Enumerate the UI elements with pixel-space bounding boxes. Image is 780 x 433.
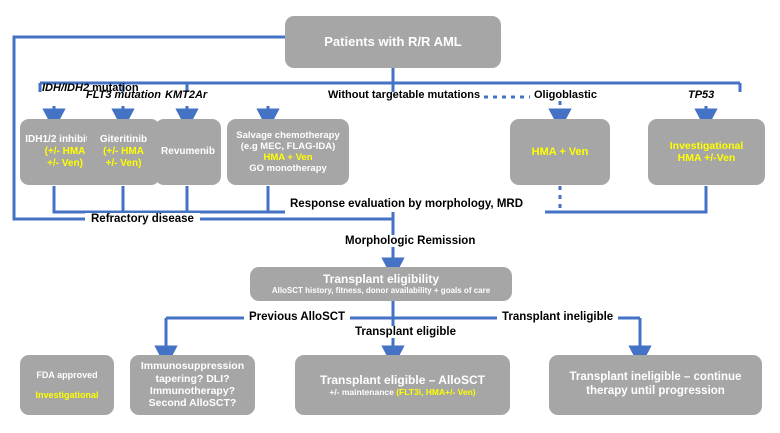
branch-label-tp53: TP53 xyxy=(688,89,714,101)
label-refractory-disease: Refractory disease xyxy=(85,213,200,225)
node-line: +/- Ven) xyxy=(47,158,83,170)
node-transplant-eligible-outcome[interactable]: Transplant eligible – AlloSCT +/- mainte… xyxy=(295,355,510,415)
node-line: Giteritinib xyxy=(100,134,147,146)
node-line: Second AlloSCT? xyxy=(149,397,237,409)
node-line: Transplant ineligible – continue xyxy=(570,371,742,385)
node-line: Revumenib xyxy=(161,146,215,158)
flowchart-canvas: Patients with R/R AML IDH/IDH2 mutation … xyxy=(0,0,780,433)
node-maintenance-highlight: (FLT3i, HMA+/- Ven) xyxy=(396,387,475,397)
branch-label-kmt2a: KMT2Ar xyxy=(165,89,207,101)
label-response-evaluation-text: Response evaluation by morphology, MRD xyxy=(290,198,523,210)
legend-box: FDA approved Investigational xyxy=(20,355,114,415)
node-salvage-treatment[interactable]: Salvage chemotherapy (e.g MEC, FLAG-IDA)… xyxy=(227,119,349,185)
node-eligibility-subtitle: AlloSCT history, fitness, donor availabi… xyxy=(272,286,490,295)
branch-label-oligoblastic-text: Oligoblastic xyxy=(534,89,597,101)
node-line: HMA + Ven xyxy=(532,146,589,159)
node-line: HMA +/-Ven xyxy=(678,152,736,164)
node-transplant-ineligible-outcome[interactable]: Transplant ineligible – continue therapy… xyxy=(549,355,762,415)
edge-tp53-out xyxy=(545,186,706,212)
node-line: Transplant eligible – AlloSCT xyxy=(320,373,485,387)
branch-label-no-target-text: Without targetable mutations xyxy=(328,89,480,101)
node-line: tapering? DLI? xyxy=(155,373,229,385)
node-patients-rr-aml[interactable]: Patients with R/R AML xyxy=(285,16,501,68)
label-transplant-ineligible-text: Transplant ineligible xyxy=(502,311,613,323)
node-line: therapy until progression xyxy=(586,385,725,399)
node-label: Patients with R/R AML xyxy=(324,34,461,49)
node-line: Immunotherapy? xyxy=(150,385,235,397)
node-oligoblastic-treatment[interactable]: HMA + Ven xyxy=(510,119,610,185)
branch-label-tp53-text: TP53 xyxy=(688,89,714,101)
node-tp53-treatment[interactable]: Investigational HMA +/-Ven xyxy=(648,119,765,185)
label-previous-allosct: Previous AlloSCT xyxy=(244,311,350,323)
node-previous-allosct-outcome[interactable]: Immunosuppression tapering? DLI? Immunot… xyxy=(130,355,255,415)
node-line: HMA + Ven xyxy=(263,152,312,163)
node-eligibility-title: Transplant eligibility xyxy=(323,272,439,286)
node-kmt2a-treatment[interactable]: Revumenib xyxy=(155,119,221,185)
node-line: (+/- HMA xyxy=(45,146,86,158)
node-line: Investigational xyxy=(670,140,744,152)
node-maintenance-prefix: +/- maintenance xyxy=(329,387,396,397)
label-transplant-ineligible: Transplant ineligible xyxy=(497,311,618,323)
node-line: (e.g MEC, FLAG-IDA) xyxy=(241,141,335,152)
node-line: +/- Ven) xyxy=(106,158,142,170)
legend-investigational-label: Investigational xyxy=(35,390,98,401)
node-line: Immunosuppression xyxy=(141,360,244,372)
branch-label-kmt2a-text: KMT2Ar xyxy=(165,89,207,101)
label-response-evaluation: Response evaluation by morphology, MRD xyxy=(290,198,523,210)
node-line: Salvage chemotherapy xyxy=(236,130,340,141)
legend-approved-label: FDA approved xyxy=(36,370,97,381)
branch-label-idh-line1: IDH/IDH2 xyxy=(42,82,89,94)
branch-label-oligoblastic: Oligoblastic xyxy=(534,89,597,101)
node-maintenance-line: +/- maintenance (FLT3i, HMA+/- Ven) xyxy=(329,387,475,397)
branch-label-no-target: Without targetable mutations xyxy=(328,89,480,101)
node-line: (+/- HMA xyxy=(103,146,144,158)
node-flt3-treatment[interactable]: Giteritinib (+/- HMA +/- Ven) xyxy=(87,119,160,185)
node-line: GO monotherapy xyxy=(249,163,327,174)
label-previous-allosct-text: Previous AlloSCT xyxy=(249,311,345,323)
label-morphologic-remission-text: Morphologic Remission xyxy=(345,235,475,247)
edge-idh-out xyxy=(54,186,285,212)
branch-label-flt3: FLT3 mutation xyxy=(86,89,161,101)
label-morphologic-remission: Morphologic Remission xyxy=(341,235,479,247)
label-transplant-eligible: Transplant eligible xyxy=(350,326,461,338)
label-transplant-eligible-text: Transplant eligible xyxy=(355,326,456,338)
branch-label-flt3-text: FLT3 mutation xyxy=(86,89,161,101)
node-transplant-eligibility[interactable]: Transplant eligibility AlloSCT history, … xyxy=(250,267,512,301)
label-refractory-disease-text: Refractory disease xyxy=(91,213,194,225)
